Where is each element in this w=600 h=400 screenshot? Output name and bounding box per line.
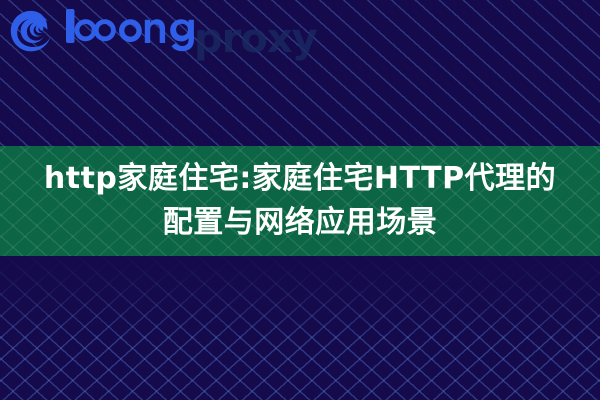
wordmark: proxy [64, 6, 317, 59]
brand-name-secondary: proxy [194, 19, 317, 59]
title-line-2: 配置与网络应用场景 [163, 201, 438, 245]
dragon-spiral-icon [8, 9, 54, 55]
brand-name-primary [64, 6, 196, 52]
brand-lockup: proxy [8, 6, 317, 58]
title-band: http家庭住宅:家庭住宅HTTP代理的 配置与网络应用场景 [0, 146, 600, 256]
promo-banner: proxy http家庭住宅:家庭住宅HTTP代理的 配置与网络应用场景 [0, 0, 600, 400]
title-line-1: http家庭住宅:家庭住宅HTTP代理的 [44, 157, 556, 201]
background-fade-overlay [0, 255, 600, 335]
